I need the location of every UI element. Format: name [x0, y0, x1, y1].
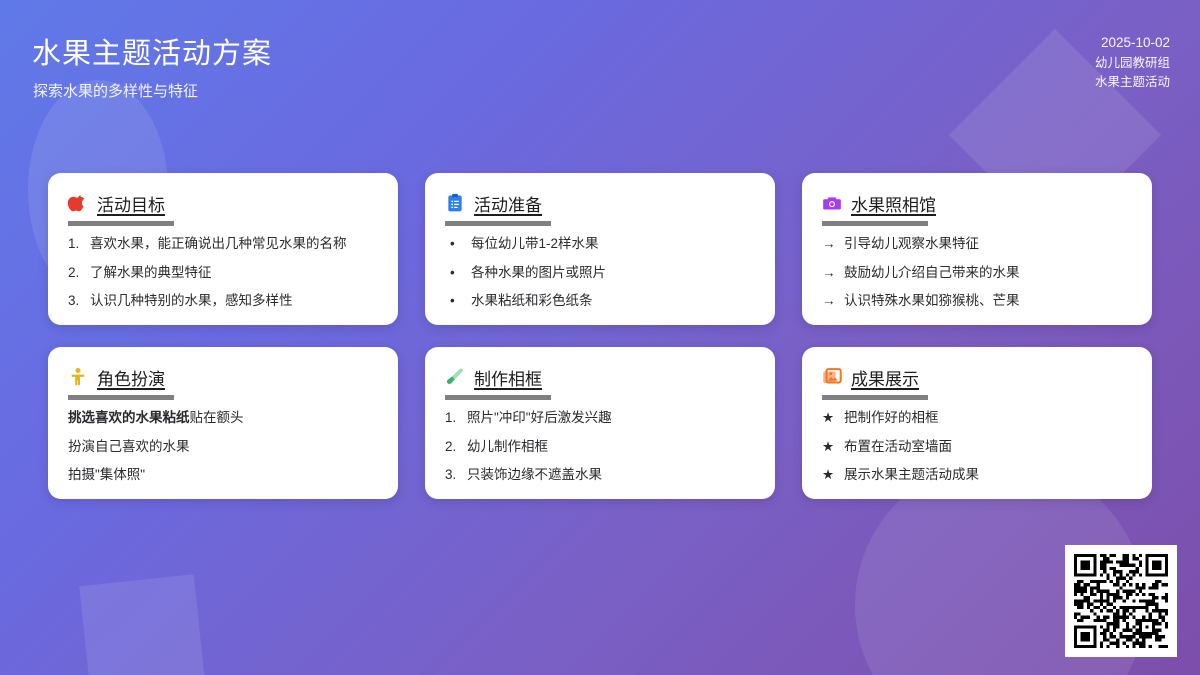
- title-underline-rule: [68, 221, 174, 226]
- line-marker: 3.: [445, 465, 460, 485]
- line-text: 把制作好的相框: [844, 408, 939, 428]
- camera-icon: [822, 193, 842, 213]
- clipboard-icon: [445, 193, 465, 213]
- card-line-item: 3.只装饰边缘不遮盖水果: [445, 465, 755, 485]
- meta-date: 2025-10-02: [1095, 33, 1170, 54]
- content-card: 水果照相馆→引导幼儿观察水果特征→鼓励幼儿介绍自己带来的水果→认识特殊水果如猕猴…: [802, 173, 1152, 325]
- slide-root: 水果主题活动方案 探索水果的多样性与特征 2025-10-02 幼儿园教研组 水…: [0, 0, 1200, 675]
- line-text: 幼儿制作相框: [467, 437, 548, 457]
- line-text: 扮演自己喜欢的水果: [68, 437, 190, 457]
- line-marker: •: [445, 263, 464, 283]
- card-grid: 活动目标1.喜欢水果，能正确说出几种常见水果的名称2.了解水果的典型特征3.认识…: [48, 173, 1152, 499]
- card-title: 水果照相馆: [851, 191, 936, 216]
- title-underline-rule: [822, 395, 928, 400]
- title-underline-rule: [822, 221, 928, 226]
- card-line-item: 3.认识几种特别的水果，感知多样性: [68, 291, 378, 311]
- line-text: 各种水果的图片或照片: [471, 263, 606, 283]
- card-body: →引导幼儿观察水果特征→鼓励幼儿介绍自己带来的水果→认识特殊水果如猕猴桃、芒果: [822, 234, 1132, 311]
- line-text: 水果粘纸和彩色纸条: [471, 291, 593, 311]
- decor-square-bottom-left: [79, 574, 205, 675]
- page-title: 水果主题活动方案: [32, 30, 272, 72]
- content-card: 制作相框1.照片"冲印"好后激发兴趣2.幼儿制作相框3.只装饰边缘不遮盖水果: [425, 347, 775, 499]
- card-body: 挑选喜欢的水果粘纸贴在额头扮演自己喜欢的水果拍摄"集体照": [68, 408, 378, 485]
- card-line-item: 扮演自己喜欢的水果: [68, 437, 378, 457]
- line-text: 鼓励幼儿介绍自己带来的水果: [844, 263, 1020, 283]
- card-title: 制作相框: [474, 365, 542, 390]
- card-header: 活动准备: [445, 191, 755, 215]
- card-body: 1.喜欢水果，能正确说出几种常见水果的名称2.了解水果的典型特征3.认识几种特别…: [68, 234, 378, 311]
- title-underline-rule: [68, 395, 174, 400]
- card-line-item: →认识特殊水果如猕猴桃、芒果: [822, 291, 1132, 311]
- meta-topic-tag: 水果主题活动: [1095, 73, 1170, 92]
- card-header: 水果照相馆: [822, 191, 1132, 215]
- meta-organization: 幼儿园教研组: [1095, 54, 1170, 73]
- paintbrush-icon: [445, 367, 465, 387]
- slide-header: 水果主题活动方案 探索水果的多样性与特征 2025-10-02 幼儿园教研组 水…: [0, 0, 1200, 150]
- header-meta: 2025-10-02 幼儿园教研组 水果主题活动: [1095, 33, 1170, 93]
- line-text: 布置在活动室墙面: [844, 437, 952, 457]
- card-line-item: →鼓励幼儿介绍自己带来的水果: [822, 263, 1132, 283]
- qr-code-container[interactable]: [1065, 545, 1177, 657]
- line-text: 每位幼儿带1-2样水果: [471, 234, 599, 254]
- apple-icon: [68, 193, 88, 213]
- content-card: 角色扮演挑选喜欢的水果粘纸贴在额头扮演自己喜欢的水果拍摄"集体照": [48, 347, 398, 499]
- line-text: 只装饰边缘不遮盖水果: [467, 465, 602, 485]
- page-subtitle: 探索水果的多样性与特征: [33, 80, 198, 101]
- line-marker: ★: [822, 465, 837, 485]
- person-icon: [68, 367, 88, 387]
- line-marker: 2.: [445, 437, 460, 457]
- card-line-item: 2.幼儿制作相框: [445, 437, 755, 457]
- card-line-item: ★把制作好的相框: [822, 408, 1132, 428]
- card-title: 活动目标: [97, 191, 165, 216]
- card-line-item: 拍摄"集体照": [68, 465, 378, 485]
- card-line-item: ★布置在活动室墙面: [822, 437, 1132, 457]
- card-header: 活动目标: [68, 191, 378, 215]
- line-text-rest: 贴在额头: [190, 410, 244, 425]
- card-line-item: •每位幼儿带1-2样水果: [445, 234, 755, 254]
- card-line-item: •水果粘纸和彩色纸条: [445, 291, 755, 311]
- line-marker: •: [445, 234, 464, 254]
- card-line-item: 挑选喜欢的水果粘纸贴在额头: [68, 408, 378, 428]
- card-title: 角色扮演: [97, 365, 165, 390]
- card-body: ★把制作好的相框★布置在活动室墙面★展示水果主题活动成果: [822, 408, 1132, 485]
- line-marker: 3.: [68, 291, 83, 311]
- card-line-item: 1.照片"冲印"好后激发兴趣: [445, 408, 755, 428]
- card-header: 制作相框: [445, 365, 755, 389]
- line-text: 挑选喜欢的水果粘纸贴在额头: [68, 408, 244, 428]
- line-text: 了解水果的典型特征: [90, 263, 212, 283]
- line-text: 喜欢水果，能正确说出几种常见水果的名称: [90, 234, 347, 254]
- qr-code: [1074, 554, 1168, 648]
- line-text-bold: 挑选喜欢的水果粘纸: [68, 410, 190, 425]
- gallery-icon: [822, 367, 842, 387]
- line-text: 展示水果主题活动成果: [844, 465, 979, 485]
- line-marker: •: [445, 291, 464, 311]
- line-text: 认识特殊水果如猕猴桃、芒果: [844, 291, 1020, 311]
- title-underline-rule: [445, 221, 551, 226]
- line-marker: ★: [822, 408, 837, 428]
- line-marker: →: [822, 263, 837, 283]
- line-marker: 1.: [68, 234, 83, 254]
- line-text: 拍摄"集体照": [68, 465, 145, 485]
- card-body: 1.照片"冲印"好后激发兴趣2.幼儿制作相框3.只装饰边缘不遮盖水果: [445, 408, 755, 485]
- content-card: 成果展示★把制作好的相框★布置在活动室墙面★展示水果主题活动成果: [802, 347, 1152, 499]
- line-marker: 2.: [68, 263, 83, 283]
- card-body: •每位幼儿带1-2样水果•各种水果的图片或照片•水果粘纸和彩色纸条: [445, 234, 755, 311]
- title-underline-rule: [445, 395, 551, 400]
- line-text: 照片"冲印"好后激发兴趣: [467, 408, 612, 428]
- card-title: 成果展示: [851, 365, 919, 390]
- line-marker: →: [822, 291, 837, 311]
- line-text: 认识几种特别的水果，感知多样性: [90, 291, 293, 311]
- line-marker: 1.: [445, 408, 460, 428]
- card-line-item: •各种水果的图片或照片: [445, 263, 755, 283]
- content-card: 活动准备•每位幼儿带1-2样水果•各种水果的图片或照片•水果粘纸和彩色纸条: [425, 173, 775, 325]
- line-text: 引导幼儿观察水果特征: [844, 234, 979, 254]
- card-line-item: 1.喜欢水果，能正确说出几种常见水果的名称: [68, 234, 378, 254]
- card-title: 活动准备: [474, 191, 542, 216]
- line-marker: →: [822, 234, 837, 254]
- card-line-item: ★展示水果主题活动成果: [822, 465, 1132, 485]
- card-header: 成果展示: [822, 365, 1132, 389]
- content-card: 活动目标1.喜欢水果，能正确说出几种常见水果的名称2.了解水果的典型特征3.认识…: [48, 173, 398, 325]
- line-marker: ★: [822, 437, 837, 457]
- card-line-item: 2.了解水果的典型特征: [68, 263, 378, 283]
- card-line-item: →引导幼儿观察水果特征: [822, 234, 1132, 254]
- card-header: 角色扮演: [68, 365, 378, 389]
